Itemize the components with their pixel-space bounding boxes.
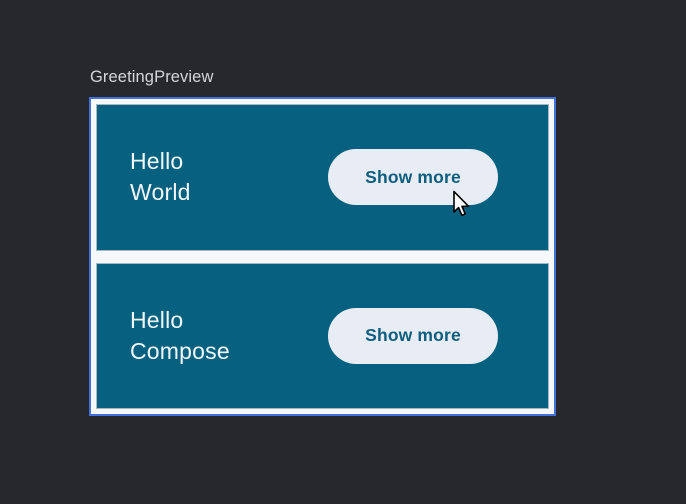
greeting-text: Hello World — [130, 146, 191, 208]
show-more-button[interactable]: Show more — [328, 308, 498, 364]
preview-surface: Hello World Show more Hello Compose Show… — [96, 104, 549, 409]
preview-title: GreetingPreview — [90, 68, 213, 87]
greeting-card: Hello World Show more — [96, 104, 549, 251]
show-more-button[interactable]: Show more — [328, 149, 498, 205]
compose-preview-frame[interactable]: Hello World Show more Hello Compose Show… — [89, 97, 556, 416]
greeting-text: Hello Compose — [130, 305, 230, 367]
greeting-card: Hello Compose Show more — [96, 263, 549, 410]
